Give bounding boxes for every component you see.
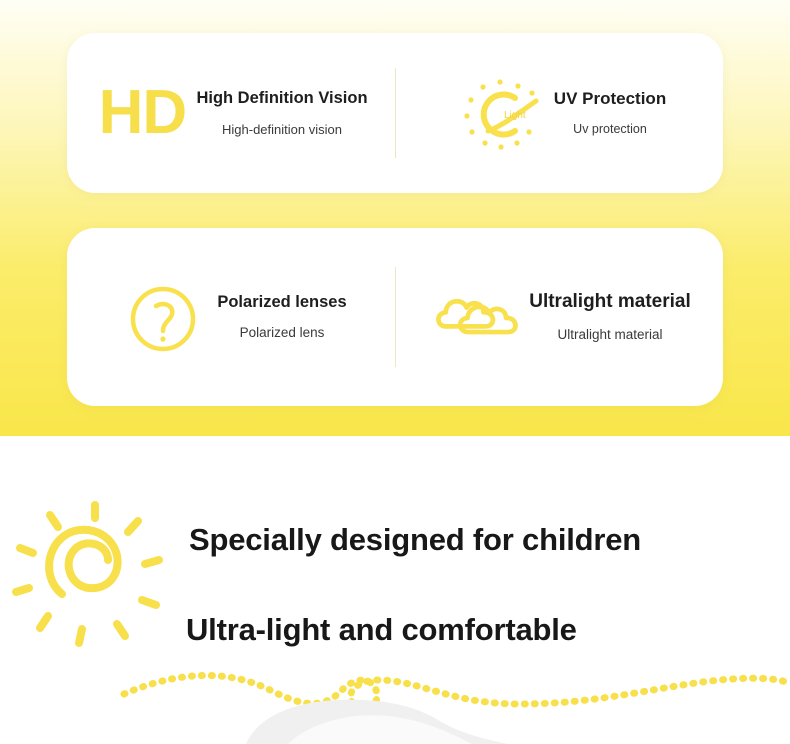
product-feature-banner: HD High Definition Vision High-definitio… <box>0 0 790 744</box>
shoe-illustration <box>228 690 558 744</box>
uv-sun-icon: Light <box>452 65 548 161</box>
feature-card-2: Polarized lenses Polarized lens Ultralig… <box>67 228 723 406</box>
feature-subtitle: Polarized lens <box>240 325 325 341</box>
feature-subtitle: Uv protection <box>573 122 647 137</box>
feature-title: Polarized lenses <box>217 293 346 313</box>
feature-title: Ultralight material <box>529 291 691 314</box>
promo-heading-line-2: Ultra-light and comfortable <box>186 612 577 648</box>
feature-cell-ultralight-material: Ultralight material Ultralight material <box>395 228 723 406</box>
promo-heading-line-1: Specially designed for children <box>189 522 641 558</box>
feature-card-1: HD High Definition Vision High-definitio… <box>67 33 723 193</box>
hd-text-icon: HD <box>94 65 190 161</box>
spiral-sun-icon <box>12 500 178 650</box>
feature-title: High Definition Vision <box>196 89 367 109</box>
uv-icon-text: Light <box>504 110 526 121</box>
feature-cell-uv-protection: Light UV Protection Uv protection <box>395 33 723 193</box>
polarized-lens-icon <box>115 269 211 365</box>
feature-cell-polarized-lenses: Polarized lenses Polarized lens <box>67 228 395 406</box>
feature-title: UV Protection <box>554 89 666 109</box>
feature-subtitle: Ultralight material <box>557 327 662 343</box>
feature-cell-high-definition-vision: HD High Definition Vision High-definitio… <box>67 33 395 193</box>
cloud-icon <box>427 269 523 365</box>
feature-subtitle: High-definition vision <box>222 122 342 138</box>
hd-icon-label: HD <box>99 82 187 144</box>
features-panel: HD High Definition Vision High-definitio… <box>0 0 790 436</box>
